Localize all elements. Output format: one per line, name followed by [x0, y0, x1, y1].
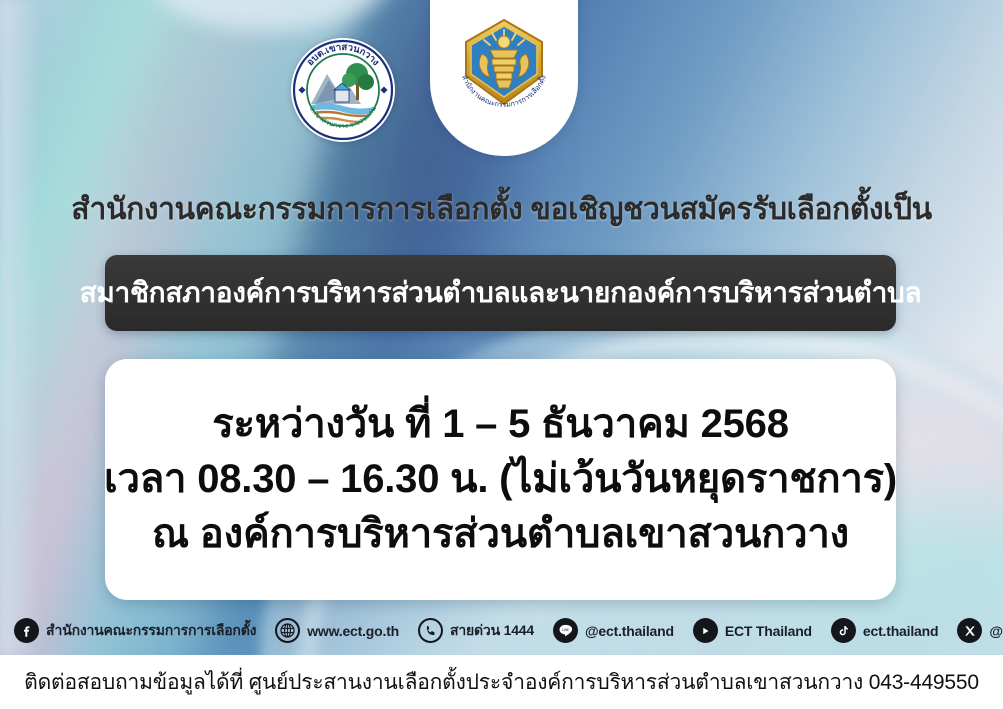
contact-text: ติดต่อสอบถามข้อมูลได้ที่ ศูนย์ประสานงานเ… — [24, 666, 979, 699]
phone-icon — [418, 618, 443, 643]
detail-line-venue: ณ องค์การบริหารส่วนตำบลเขาสวนกวาง — [152, 509, 849, 560]
svg-text:LINE: LINE — [562, 628, 570, 632]
social-label-youtube: ECT Thailand — [725, 623, 812, 639]
detail-line-date: ระหว่างวัน ที่ 1 – 5 ธันวาคม 2568 — [212, 399, 789, 450]
social-links-bar: สำนักงานคณะกรรมการการเลือกตั้ง www.ect.g… — [0, 606, 1003, 655]
background-left-edge — [0, 0, 40, 655]
contact-strip: ติดต่อสอบถามข้อมูลได้ที่ ศูนย์ประสานงานเ… — [0, 655, 1003, 709]
facebook-icon — [14, 618, 39, 643]
abot-seal-icon: อบต.เขาสวนกวาง อ.เขาสวนกวาง จ.ขอนแก่น — [291, 38, 395, 142]
social-label-hotline: สายด่วน 1444 — [450, 620, 534, 642]
positions-banner: สมาชิกสภาองค์การบริหารส่วนตำบลและนายกองค… — [105, 255, 896, 331]
tiktok-icon — [831, 618, 856, 643]
positions-banner-text: สมาชิกสภาองค์การบริหารส่วนตำบลและนายกองค… — [80, 271, 922, 315]
election-poster: สำนักงานคณะกรรมการการเลือกตั้ง — [0, 0, 1003, 709]
detail-line-time: เวลา 08.30 – 16.30 น. (ไม่เว้นวันหยุดราช… — [104, 454, 897, 505]
social-label-tiktok: ect.thailand — [863, 623, 938, 639]
social-label-line: @ect.thailand — [585, 623, 674, 639]
youtube-icon — [693, 618, 718, 643]
social-link-x[interactable]: @EctThailand — [957, 618, 1003, 643]
line-icon: LINE — [553, 618, 578, 643]
social-label-x: @EctThailand — [989, 623, 1003, 639]
social-link-line[interactable]: LINE @ect.thailand — [553, 618, 674, 643]
social-link-youtube[interactable]: ECT Thailand — [693, 618, 812, 643]
local-government-seal: อบต.เขาสวนกวาง อ.เขาสวนกวาง จ.ขอนแก่น — [291, 38, 395, 142]
ect-emblem-icon: สำนักงานคณะกรรมการการเลือกตั้ง — [452, 14, 556, 126]
x-twitter-icon — [957, 618, 982, 643]
social-label-facebook: สำนักงานคณะกรรมการการเลือกตั้ง — [46, 620, 256, 642]
details-card: ระหว่างวัน ที่ 1 – 5 ธันวาคม 2568 เวลา 0… — [105, 359, 896, 600]
social-link-facebook[interactable]: สำนักงานคณะกรรมการการเลือกตั้ง — [14, 618, 256, 643]
social-link-website[interactable]: www.ect.go.th — [275, 618, 399, 643]
social-link-tiktok[interactable]: ect.thailand — [831, 618, 938, 643]
social-label-website: www.ect.go.th — [307, 623, 399, 639]
poster-headline: สำนักงานคณะกรรมการการเลือกตั้ง ขอเชิญชวน… — [0, 186, 1003, 233]
globe-icon — [275, 618, 300, 643]
social-link-hotline[interactable]: สายด่วน 1444 — [418, 618, 534, 643]
